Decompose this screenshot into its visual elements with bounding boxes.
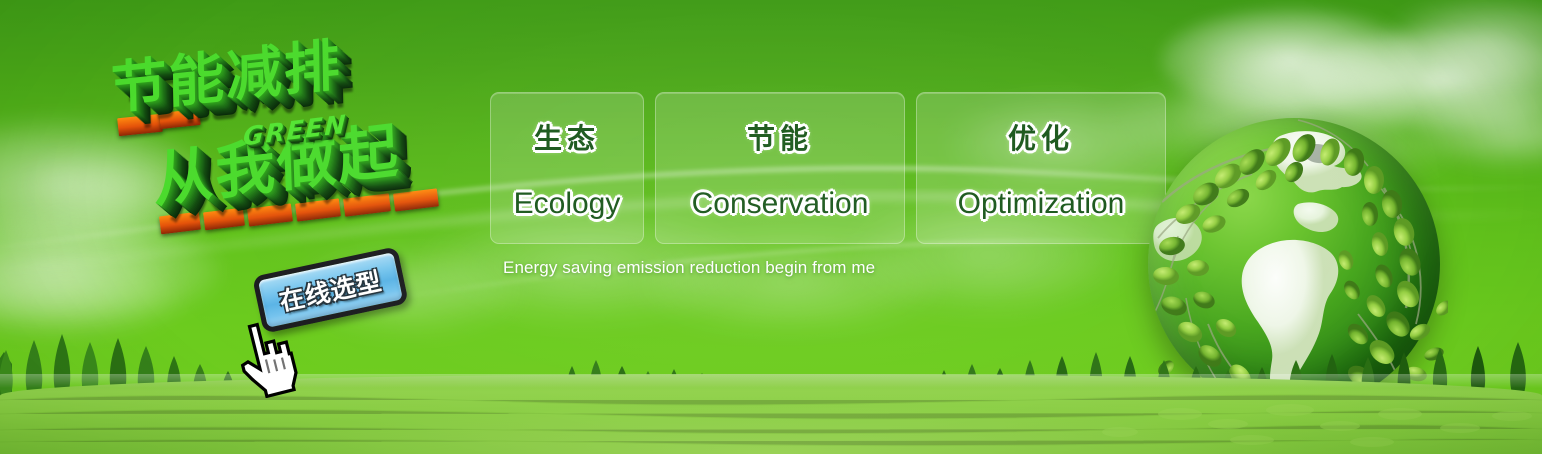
feature-card-title-en: Optimization [958, 187, 1125, 221]
cloud-right-4 [1390, 0, 1542, 80]
feature-card-title-cn: 节能 [747, 117, 813, 157]
feature-card-conservation[interactable]: 节能 Conservation [655, 92, 905, 244]
feature-card-ecology[interactable]: 生态 Ecology [490, 92, 644, 244]
title-line-primary: 节能减排 [110, 20, 342, 126]
feature-card-title-en: Conservation [692, 187, 869, 221]
title-ember-7 [343, 193, 391, 216]
eco-hero-banner: 节能减排 GREEN 从我做起 生态 Ecology 节能 Conservati… [0, 0, 1542, 454]
feature-card-title-cn: 优化 [1008, 117, 1074, 157]
title-ember-8 [393, 188, 439, 211]
feature-card-title-cn: 生态 [534, 117, 600, 157]
cloud-center-2 [640, 235, 940, 330]
feature-card-group: 生态 Ecology 节能 Conservation 优化 Optimizati… [490, 92, 1166, 244]
grass-ground [0, 374, 1542, 454]
feature-card-title-en: Ecology [514, 187, 621, 221]
cloud-right-1 [1160, 8, 1420, 113]
leafy-earth-globe-icon [1148, 118, 1448, 418]
hero-title-artwork: 节能减排 GREEN 从我做起 [96, 38, 486, 268]
feature-card-optimization[interactable]: 优化 Optimization [916, 92, 1166, 244]
online-selection-button-label: 在线选型 [276, 262, 385, 319]
cloud-right-2 [1300, 30, 1542, 130]
hero-subtitle: Energy saving emission reduction begin f… [503, 258, 875, 278]
title-ember-6 [295, 198, 341, 221]
